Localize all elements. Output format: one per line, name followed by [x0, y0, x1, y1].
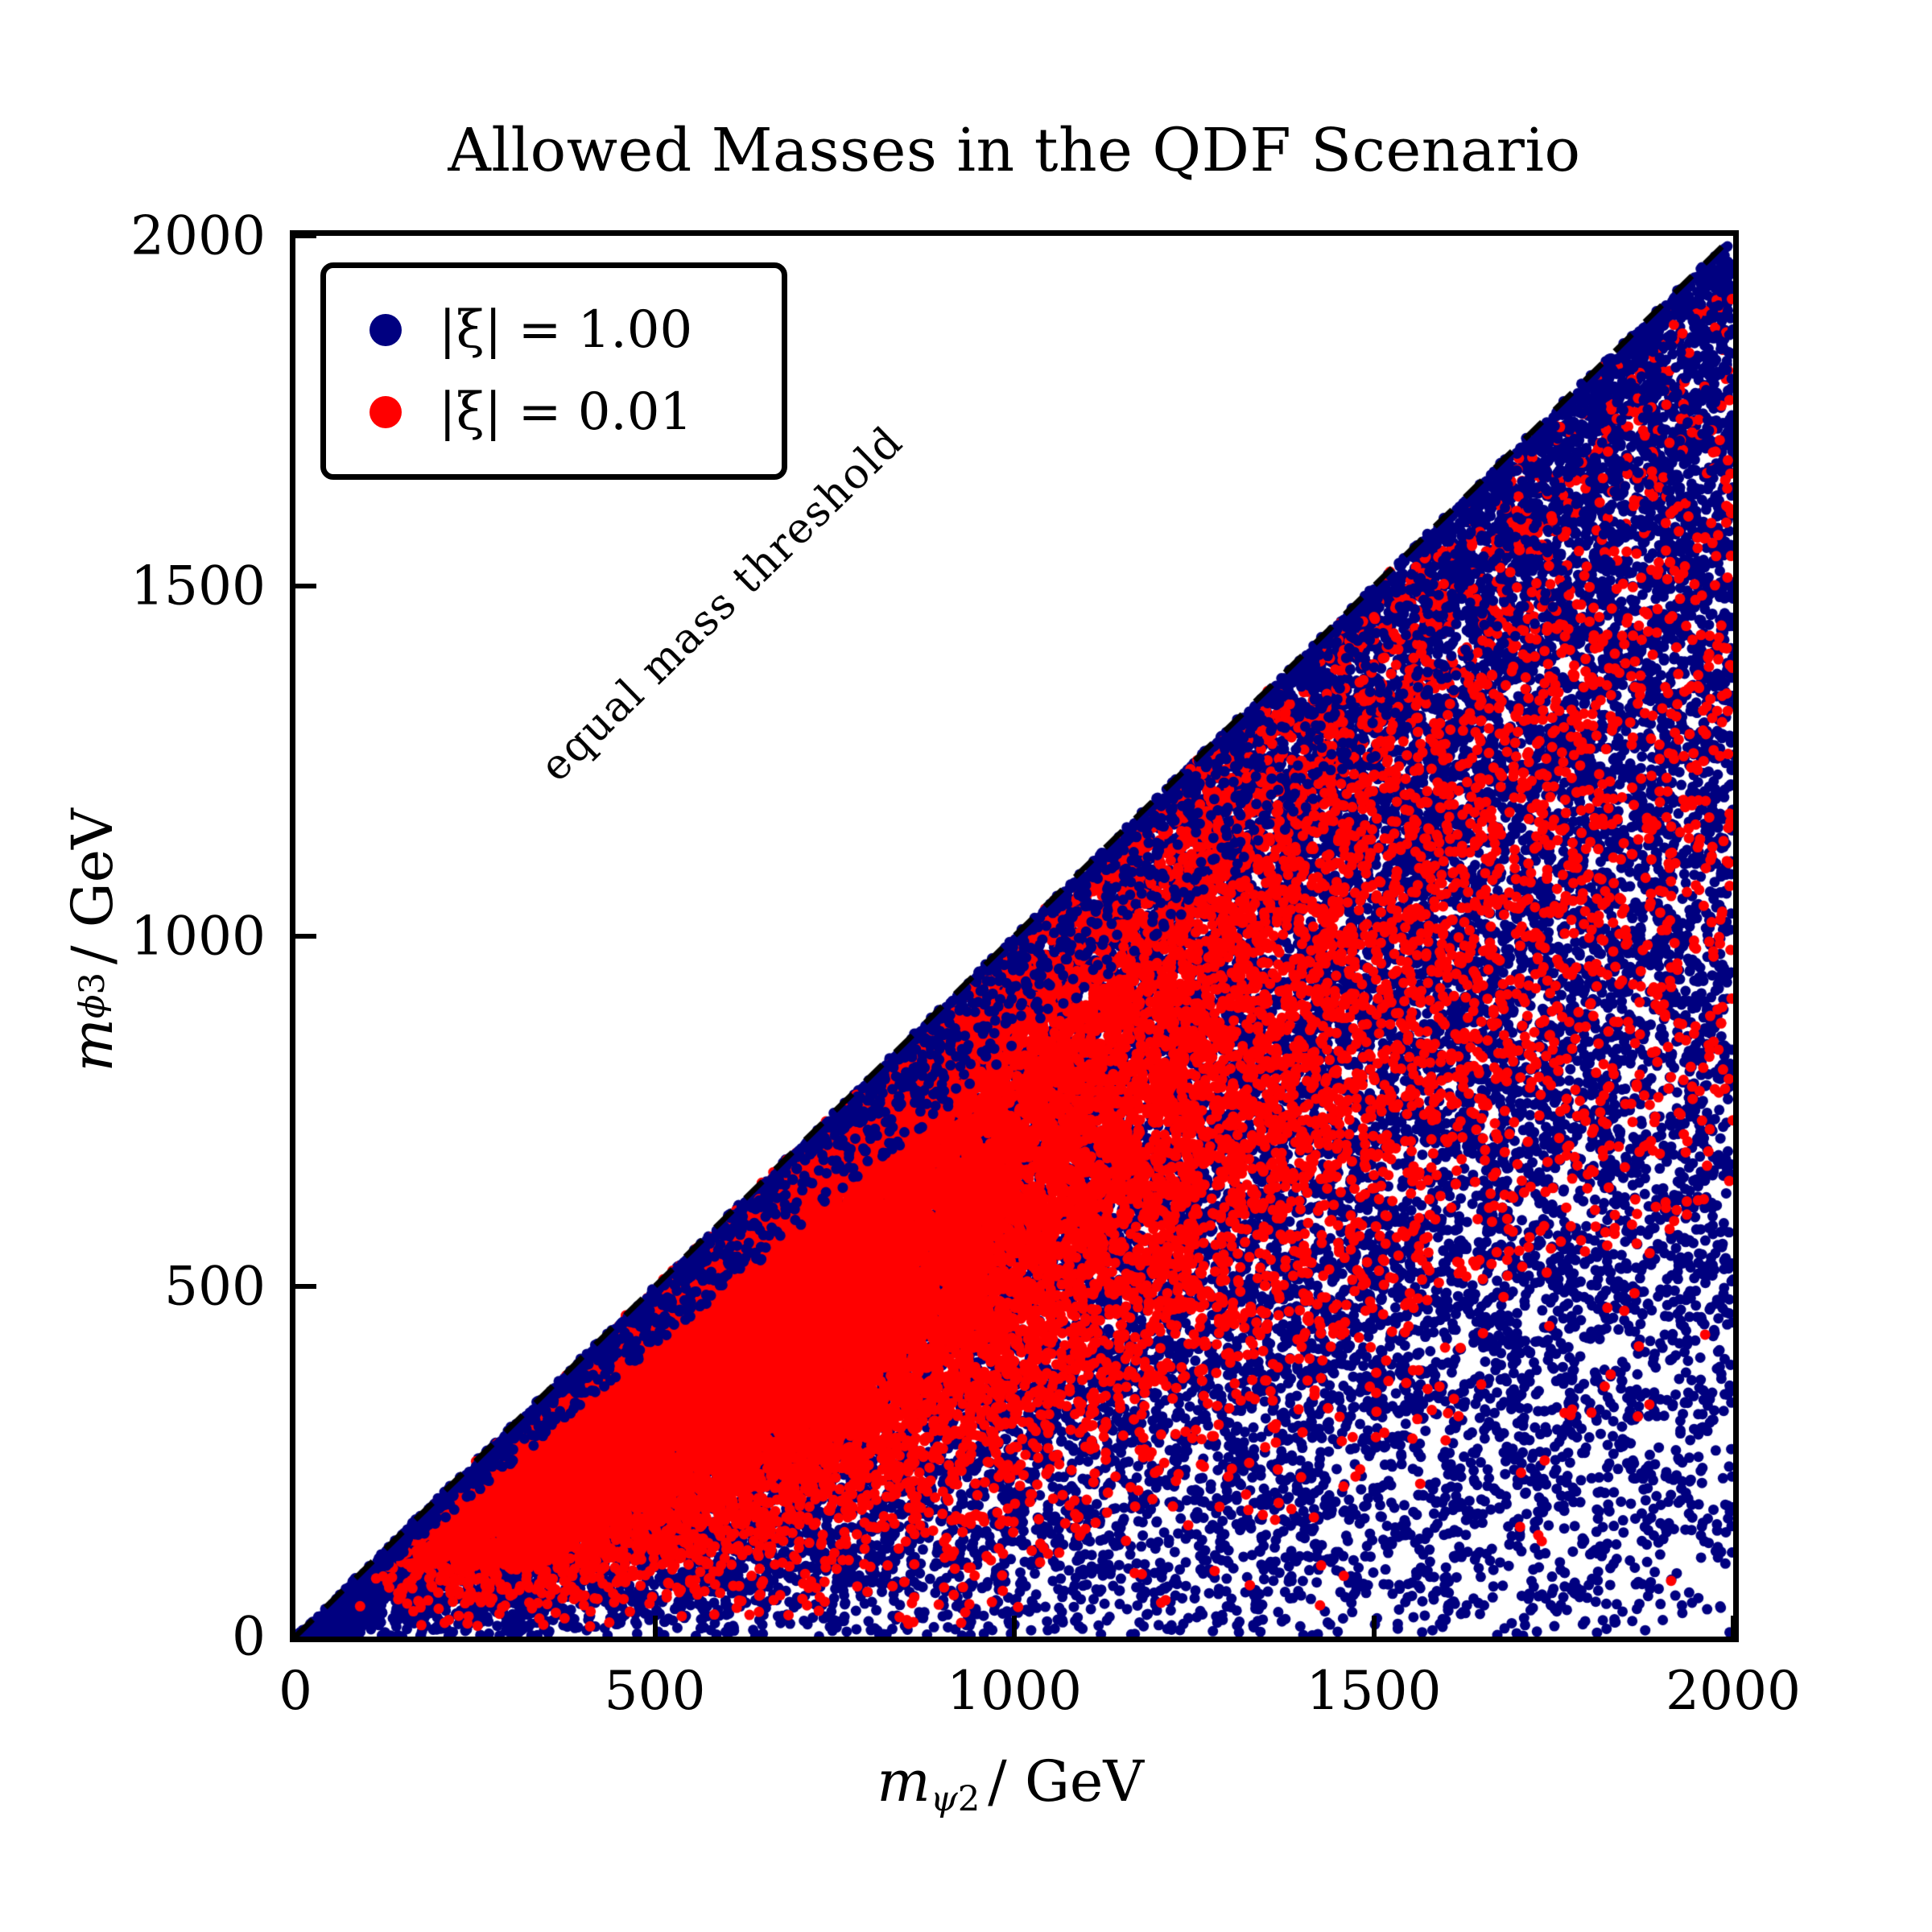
legend-entry-xi-1.00[interactable]: |ξ| = 1.00: [350, 304, 758, 356]
y-tick-mark-2000: [295, 233, 316, 238]
x-axis-label-unit: / GeV: [980, 1748, 1151, 1814]
y-axis-label-subscript-index: 3: [72, 972, 113, 995]
x-axis-label: mψ2/ GeV: [290, 1748, 1739, 1819]
y-axis-label-symbol: m: [60, 1018, 126, 1071]
y-tick-mark-1500: [295, 584, 316, 588]
y-axis-label-unit: / GeV: [60, 801, 126, 972]
scatter-plot-figure: Allowed Masses in the QDF Scenario mϕ3/ …: [0, 0, 1932, 1932]
y-axis-label-subscript: ϕ: [72, 994, 113, 1018]
y-tick-label-2000: 2000: [130, 205, 266, 267]
x-axis-label-symbol: m: [877, 1748, 930, 1814]
x-tick-label-500: 500: [605, 1660, 706, 1722]
y-tick-mark-1000: [295, 934, 316, 939]
x-axis-label-subscript: ψ: [931, 1779, 958, 1819]
y-tick-label-1500: 1500: [130, 555, 266, 617]
x-tick-label-0: 0: [279, 1660, 312, 1722]
page-title: Allowed Masses in the QDF Scenario: [290, 121, 1739, 180]
x-tick-mark-500: [653, 1616, 658, 1637]
x-tick-label-1500: 1500: [1307, 1660, 1442, 1722]
x-tick-mark-1500: [1372, 1616, 1377, 1637]
y-tick-label-500: 500: [164, 1256, 266, 1318]
x-tick-label-2000: 2000: [1666, 1660, 1801, 1722]
legend-label-xi-1.00: |ξ| = 1.00: [439, 304, 692, 356]
x-tick-mark-2000: [1731, 1616, 1736, 1637]
y-tick-label-1000: 1000: [130, 906, 266, 968]
y-axis-label: mϕ3/ GeV: [48, 230, 137, 1642]
legend-label-xi-0.01: |ξ| = 0.01: [439, 386, 692, 438]
y-tick-label-0: 0: [232, 1606, 266, 1668]
legend[interactable]: |ξ| = 1.00 |ξ| = 0.01: [320, 262, 787, 480]
y-tick-mark-500: [295, 1284, 316, 1289]
legend-marker-navy: [369, 314, 402, 346]
x-axis-label-subscript-index: 2: [958, 1779, 980, 1819]
legend-marker-red: [369, 396, 402, 428]
legend-entry-xi-0.01[interactable]: |ξ| = 0.01: [350, 386, 758, 438]
x-tick-mark-1000: [1012, 1616, 1017, 1637]
x-tick-label-1000: 1000: [947, 1660, 1082, 1722]
